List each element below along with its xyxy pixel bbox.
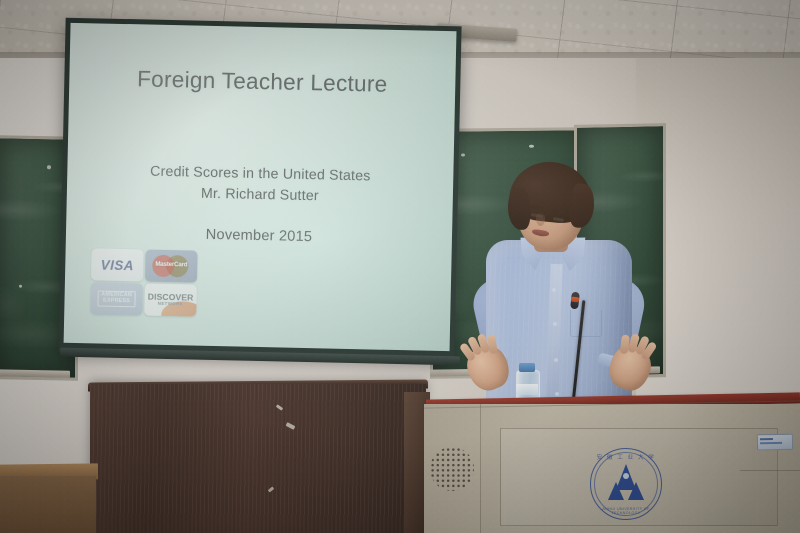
- chalk-mark: [461, 153, 465, 156]
- mastercard-label: MasterCard: [152, 261, 190, 269]
- visa-logo-icon: VISA: [91, 248, 144, 281]
- discover-sublabel: NETWORK: [144, 301, 196, 307]
- amex-logo-icon: AMERICAN EXPRESS: [90, 282, 143, 315]
- mastercard-circles: MasterCard: [152, 254, 191, 279]
- podium-wood-grain: [90, 384, 426, 533]
- floor: [0, 476, 96, 533]
- sticker-line: [760, 442, 782, 444]
- seal-center-dot: [623, 473, 629, 479]
- speaker-grille-icon: [430, 447, 474, 491]
- lecture-hall-photo: Foreign Teacher Lecture Credit Scores in…: [0, 0, 800, 533]
- credit-card-logo-group: VISA MasterCard AMERICAN EXPRESS: [90, 248, 197, 316]
- seal-mountain-mark: [609, 464, 643, 500]
- amex-box: AMERICAN EXPRESS: [97, 291, 136, 307]
- projection-screen: Foreign Teacher Lecture Credit Scores in…: [58, 18, 461, 361]
- slide-date: November 2015: [66, 224, 452, 248]
- sticker-line: [760, 438, 773, 440]
- discover-logo-icon: DISCOVER NETWORK: [144, 284, 197, 317]
- presenter-nose: [536, 212, 545, 226]
- shirt-button: [555, 392, 559, 396]
- panel-seam-lower: [740, 470, 800, 471]
- amex-label-line2: EXPRESS: [101, 299, 132, 305]
- seal-chinese-text: 安 徽 工 业 大 学: [590, 453, 662, 461]
- slide-subtitle-topic: Credit Scores in the United States: [67, 162, 453, 186]
- discover-wrap: DISCOVER NETWORK: [144, 284, 197, 317]
- slide-subtitle-presenter: Mr. Richard Sutter: [67, 183, 453, 207]
- shirt-button: [553, 322, 557, 326]
- chalk-mark: [529, 145, 534, 148]
- shirt-button: [552, 288, 556, 292]
- shirt-pocket: [570, 310, 602, 337]
- seal-triangle-right: [628, 482, 644, 500]
- seal-triangle-left: [608, 482, 624, 500]
- panel-seam-vertical: [480, 404, 481, 533]
- mastercard-logo-icon: MasterCard: [145, 250, 198, 283]
- slide-surface: Foreign Teacher Lecture Credit Scores in…: [64, 23, 457, 351]
- slide-title: Foreign Teacher Lecture: [69, 65, 455, 99]
- seal-english-text: ANHUI UNIVERSITY OF TECHNOLOGY: [590, 507, 662, 515]
- university-seal-icon: 安 徽 工 业 大 学 ANHUI UNIVERSITY OF TECHNOLO…: [590, 448, 662, 520]
- podium: [90, 384, 426, 533]
- chalk-mark: [19, 285, 22, 288]
- microphone-indicator-band: [571, 297, 579, 303]
- shirt-button: [554, 358, 558, 362]
- water-bottle-cap: [519, 363, 535, 372]
- water-bottle-label: [516, 384, 538, 395]
- chalk-rail-left: [0, 369, 70, 377]
- chalk-mark: [47, 165, 51, 169]
- wall-label-sticker: [757, 434, 793, 451]
- visa-label: VISA: [101, 257, 134, 273]
